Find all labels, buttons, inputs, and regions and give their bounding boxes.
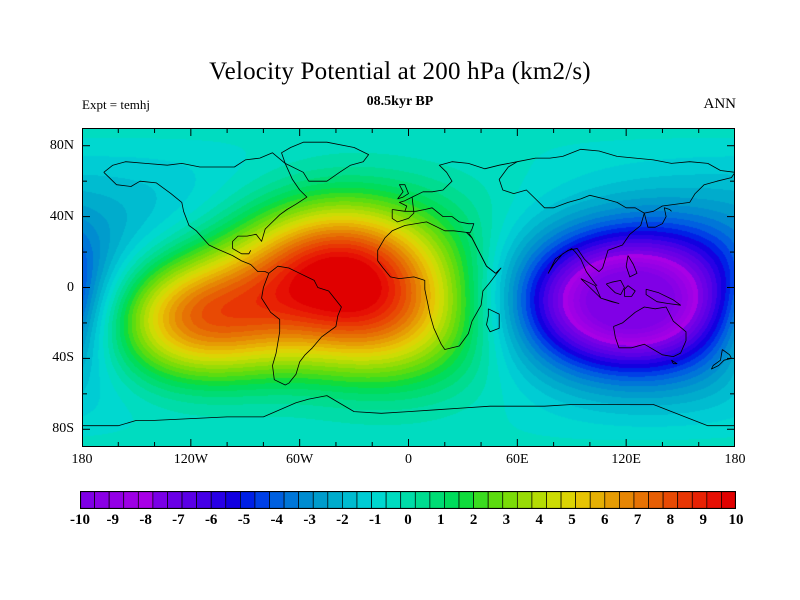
colorbar-cell (153, 491, 168, 509)
y-tick-label: 40S (28, 350, 74, 366)
colorbar-cell (372, 491, 387, 509)
colorbar-tick-label: 3 (503, 512, 511, 529)
colorbar-tick-label: 7 (634, 512, 642, 529)
colorbar-cell (634, 491, 649, 509)
colorbar-cell (211, 491, 226, 509)
colorbar-cell (576, 491, 591, 509)
page-title: Velocity Potential at 200 hPa (km2/s) (0, 58, 800, 86)
colorbar-tick-label: -4 (271, 512, 284, 529)
colorbar-cell (430, 491, 445, 509)
colorbar-cell (517, 491, 532, 509)
colorbar-cell (692, 491, 707, 509)
colorbar-tick-label: 4 (535, 512, 543, 529)
colorbar-tick-label: 5 (568, 512, 576, 529)
colorbar-cell (503, 491, 518, 509)
colorbar-cell (138, 491, 153, 509)
map-plot-area (82, 128, 735, 447)
colorbar-cell (255, 491, 270, 509)
colorbar-tick-label: -3 (303, 512, 316, 529)
x-tick-label: 0 (405, 452, 412, 468)
colorbar-tick-label: 9 (699, 512, 707, 529)
colorbar-cell (328, 491, 343, 509)
colorbar-cell (590, 491, 605, 509)
colorbar-cell (546, 491, 561, 509)
colorbar-cell (182, 491, 197, 509)
colorbar-cell (109, 491, 124, 509)
colorbar-tick-label: -5 (238, 512, 251, 529)
colorbar-cell (488, 491, 503, 509)
colorbar-cell (678, 491, 693, 509)
velocity-potential-map (82, 128, 735, 447)
colorbar-cell (561, 491, 576, 509)
colorbar-cell (605, 491, 620, 509)
colorbar-cell (444, 491, 459, 509)
y-tick-label: 80S (28, 421, 74, 437)
colorbar-cell (619, 491, 634, 509)
colorbar-tick-label: 2 (470, 512, 478, 529)
colorbar-cell (649, 491, 664, 509)
x-tick-label: 60W (286, 452, 313, 468)
colorbar-cell (532, 491, 547, 509)
velocity-potential-figure: Velocity Potential at 200 hPa (km2/s) Ex… (0, 0, 800, 600)
colorbar-cell (284, 491, 299, 509)
colorbar (80, 491, 736, 509)
y-tick-label: 40N (28, 209, 74, 225)
colorbar-tick-label: 0 (404, 512, 412, 529)
colorbar-tick-label: -7 (172, 512, 185, 529)
colorbar-cell (197, 491, 212, 509)
colorbar-tick-label: 1 (437, 512, 445, 529)
x-tick-label: 120E (611, 452, 641, 468)
colorbar-cell (124, 491, 139, 509)
season-label: ANN (704, 96, 737, 113)
y-tick-label: 80N (28, 138, 74, 154)
colorbar-cell (226, 491, 241, 509)
colorbar-cell (459, 491, 474, 509)
colorbar-cell (357, 491, 372, 509)
colorbar-tick-label: 10 (729, 512, 744, 529)
colorbar-tick-label: -1 (369, 512, 382, 529)
subtitle-label: 08.5kyr BP (0, 94, 800, 110)
colorbar-cell (415, 491, 430, 509)
colorbar-cell (299, 491, 314, 509)
colorbar-cell (240, 491, 255, 509)
colorbar-cell (342, 491, 357, 509)
colorbar-cell (95, 491, 110, 509)
x-tick-label: 60E (506, 452, 529, 468)
x-tick-label: 120W (174, 452, 208, 468)
colorbar-cell (707, 491, 722, 509)
colorbar-cell (474, 491, 489, 509)
colorbar-swatches (80, 491, 736, 509)
colorbar-cell (386, 491, 401, 509)
shaded-contour-field (82, 128, 735, 447)
colorbar-tick-label: -6 (205, 512, 218, 529)
colorbar-tick-label: 6 (601, 512, 609, 529)
x-tick-label: 180 (725, 452, 746, 468)
colorbar-cell (270, 491, 285, 509)
colorbar-cell (721, 491, 736, 509)
colorbar-cell (313, 491, 328, 509)
colorbar-cell (80, 491, 95, 509)
colorbar-cell (401, 491, 416, 509)
colorbar-tick-label: -8 (139, 512, 152, 529)
colorbar-cell (663, 491, 678, 509)
colorbar-tick-label: -2 (336, 512, 349, 529)
x-tick-label: 180 (72, 452, 93, 468)
colorbar-cell (167, 491, 182, 509)
y-tick-label: 0 (28, 280, 74, 296)
colorbar-tick-label: -9 (107, 512, 120, 529)
colorbar-tick-label: -10 (70, 512, 90, 529)
colorbar-tick-label: 8 (667, 512, 675, 529)
